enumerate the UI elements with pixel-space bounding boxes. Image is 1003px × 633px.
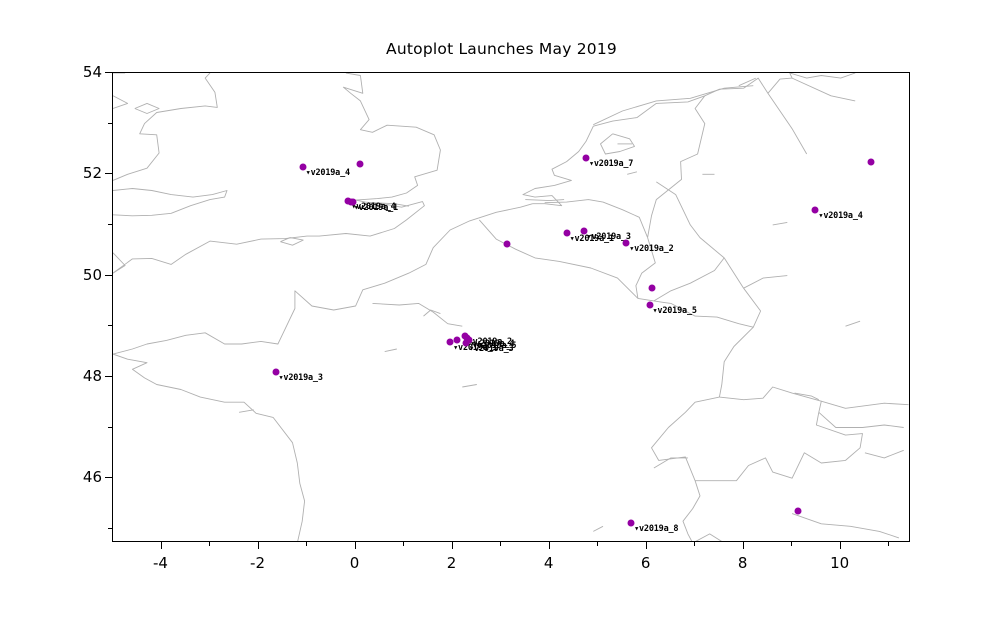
x-axis-tick	[694, 542, 695, 546]
y-axis-tick	[108, 123, 112, 124]
x-axis-tick	[258, 542, 259, 549]
scatter-point-label: ▾v2019a_3	[279, 373, 323, 383]
x-axis-tick	[452, 542, 453, 549]
y-axis-tick	[108, 325, 112, 326]
scatter-point-label: ▾v2019a_1	[354, 203, 398, 213]
y-axis-tick	[105, 72, 112, 73]
x-axis-tick	[888, 542, 889, 546]
scatter-point[interactable]	[867, 158, 874, 165]
scatter-point-label: ▾v2019a_7	[589, 159, 633, 169]
scatter-point-label: ▾v2019a_3	[469, 344, 513, 354]
scatter-point-label: ▾v2019a_8	[634, 524, 678, 534]
x-axis-tick	[161, 542, 162, 549]
x-axis-tick-label: -2	[250, 554, 265, 572]
y-axis-tick	[105, 477, 112, 478]
x-axis-tick-label: 0	[350, 554, 360, 572]
x-axis-tick	[791, 542, 792, 546]
y-axis-tick	[108, 224, 112, 225]
y-axis-tick	[105, 275, 112, 276]
scatter-point-label: ▾v2019a_4	[306, 168, 350, 178]
scatter-point[interactable]	[794, 508, 801, 515]
x-axis-tick	[646, 542, 647, 549]
y-axis-tick	[105, 376, 112, 377]
x-axis-tick-label: -4	[153, 554, 168, 572]
x-axis-tick	[209, 542, 210, 546]
y-axis-tick-label: 48	[72, 367, 102, 385]
plot-axes-frame: ▾v2019a_4▾v2019a_4▾v2019a_1▾v2019a_3▾v20…	[112, 72, 910, 542]
y-axis-tick-label: 52	[72, 164, 102, 182]
scatter-point[interactable]	[649, 284, 656, 291]
y-axis-tick-label: 50	[72, 266, 102, 284]
x-axis-tick-label: 2	[447, 554, 457, 572]
scatter-point[interactable]	[503, 241, 510, 248]
x-axis-tick	[743, 542, 744, 549]
x-axis-tick-label: 10	[830, 554, 849, 572]
chart-title: Autoplot Launches May 2019	[0, 40, 1003, 58]
scatter-point[interactable]	[349, 199, 356, 206]
scatter-point-label: ▾v2019a_2	[629, 244, 673, 254]
scatter-point-label: ▾v2019a_4	[818, 211, 862, 221]
x-axis-tick	[306, 542, 307, 546]
scatter-point-layer: ▾v2019a_4▾v2019a_4▾v2019a_1▾v2019a_3▾v20…	[113, 73, 910, 542]
x-axis-tick	[549, 542, 550, 549]
scatter-point-label: ▾v2019a_5	[653, 306, 697, 316]
x-axis-tick-label: 8	[738, 554, 748, 572]
y-axis-tick	[108, 427, 112, 428]
scatter-point[interactable]	[357, 161, 364, 168]
x-axis-tick-label: 4	[544, 554, 554, 572]
figure-canvas: Autoplot Launches May 2019 ▾v2019a_4▾v20…	[0, 0, 1003, 633]
y-axis-tick	[105, 173, 112, 174]
x-axis-tick	[840, 542, 841, 549]
y-axis-tick-label: 46	[72, 468, 102, 486]
x-axis-tick	[355, 542, 356, 549]
x-axis-tick-label: 6	[641, 554, 651, 572]
x-axis-tick	[403, 542, 404, 546]
y-axis-tick	[108, 528, 112, 529]
y-axis-tick-label: 54	[72, 63, 102, 81]
x-axis-tick	[500, 542, 501, 546]
x-axis-tick	[597, 542, 598, 546]
scatter-point[interactable]	[454, 337, 461, 344]
